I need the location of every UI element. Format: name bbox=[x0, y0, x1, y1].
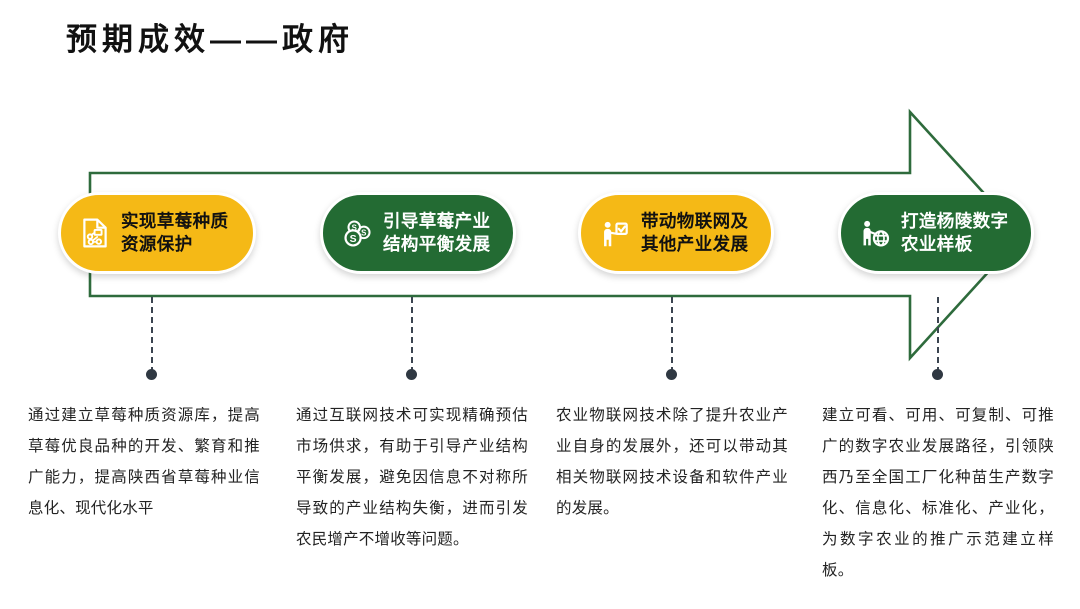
step-description-3: 农业物联网技术除了提升农业产业自身的发展外，还可以带动其相关物联网技术设备和软件… bbox=[556, 400, 788, 524]
person-checkbox-icon bbox=[598, 216, 632, 250]
step-pill-label-4: 打造杨陵数字 农业样板 bbox=[901, 210, 1008, 256]
connector-dot-4 bbox=[932, 369, 943, 380]
connector-line-1 bbox=[151, 297, 153, 373]
svg-text:S: S bbox=[350, 234, 357, 245]
step-pill-3[interactable]: 带动物联网及 其他产业发展 bbox=[578, 192, 774, 274]
step-pill-2[interactable]: S S S 引导草莓产业 结构平衡发展 bbox=[320, 192, 516, 274]
coins-icon: S S S bbox=[340, 216, 374, 250]
connector-dot-3 bbox=[666, 369, 677, 380]
connector-line-2 bbox=[411, 297, 413, 373]
step-description-4: 建立可看、可用、可复制、可推广的数字农业发展路径，引领陕西乃至全国工厂化种苗生产… bbox=[822, 400, 1054, 586]
connector-line-3 bbox=[671, 297, 673, 373]
step-pill-1[interactable]: 实现草莓种质 资源保护 bbox=[58, 192, 256, 274]
step-description-2: 通过互联网技术可实现精确预估市场供求，有助于引导产业结构平衡发展，避免因信息不对… bbox=[296, 400, 528, 555]
step-pill-4[interactable]: 打造杨陵数字 农业样板 bbox=[838, 192, 1034, 274]
infographic-canvas: 预期成效——政府 实现草莓种质 资源保护 S S S bbox=[0, 0, 1080, 609]
step-pill-label-2: 引导草莓产业 结构平衡发展 bbox=[383, 210, 490, 256]
step-pill-label-3: 带动物联网及 其他产业发展 bbox=[641, 210, 748, 256]
connector-dot-2 bbox=[406, 369, 417, 380]
document-network-icon bbox=[78, 216, 112, 250]
connector-dot-1 bbox=[146, 369, 157, 380]
svg-text:S: S bbox=[361, 229, 366, 238]
connector-line-4 bbox=[937, 297, 939, 373]
step-description-1: 通过建立草莓种质资源库，提高草莓优良品种的开发、繁育和推广能力，提高陕西省草莓种… bbox=[28, 400, 260, 524]
person-globe-icon bbox=[858, 216, 892, 250]
step-pill-label-1: 实现草莓种质 资源保护 bbox=[121, 210, 228, 256]
